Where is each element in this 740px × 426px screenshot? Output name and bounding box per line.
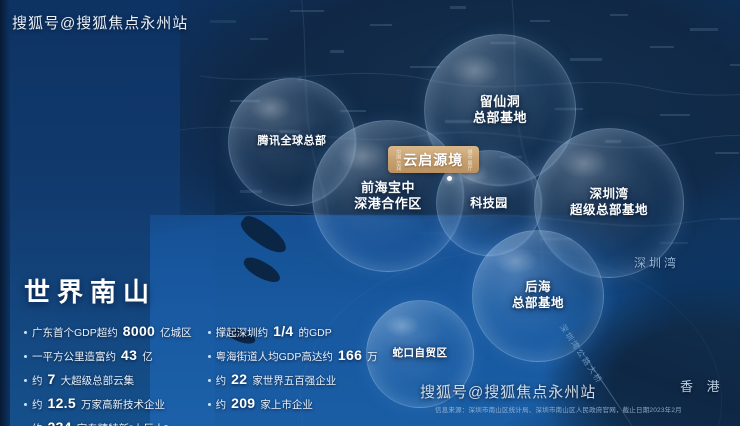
stat-value: 12.5 (48, 395, 76, 411)
stat-post: 万 (367, 349, 378, 364)
watermark-bottom: 搜狐号@搜狐焦点永州站 (420, 381, 596, 402)
stat-pre: 粤海街道人均GDP高达约 (216, 349, 333, 364)
stat-post: 家世界五百强企业 (252, 373, 336, 388)
stat-pre: 撑起深圳约 (216, 325, 269, 340)
bullet-dot (208, 379, 211, 382)
stat-item: 约 209 家上市企业 (208, 395, 378, 412)
map-label-bay: 深圳湾 (634, 254, 679, 271)
bubble-label: 腾讯全球总部 (258, 135, 327, 149)
stat-item: 约 22 家世界五百强企业 (208, 371, 378, 388)
stat-post: 家上市企业 (260, 397, 313, 412)
stat-post: 万家高新技术企业 (81, 397, 165, 412)
stat-value: 22 (231, 371, 247, 387)
stat-post: 家专精特新“小巨人” (77, 421, 168, 426)
stat-post: 的GDP (299, 325, 332, 340)
bullet-dot (24, 355, 27, 358)
bullet-dot (208, 355, 211, 358)
stat-value: 234 (48, 419, 72, 426)
bubble-label: 前海宝中 深港合作区 (354, 180, 422, 213)
stat-item: 广东首个GDP超约 8000 亿城区 (24, 323, 192, 340)
stat-pre: 约 (216, 397, 227, 412)
watermark-top: 搜狐号@搜狐焦点永州站 (12, 12, 188, 33)
stat-pre: 约 (32, 397, 43, 412)
bubble-houhai-hq[interactable]: 后海 总部基地 (472, 230, 604, 362)
bullet-dot (24, 331, 27, 334)
stat-value: 7 (48, 371, 56, 387)
map-infographic: 深圳湾公路大桥 腾讯全球总部 留仙洞 总部基地 前海宝中 深港合作区 科技园 深… (0, 0, 740, 426)
bullet-dot (208, 403, 211, 406)
map-left-edge-shade (0, 0, 10, 426)
bubble-label: 留仙洞 总部基地 (473, 94, 527, 127)
stats-columns: 广东首个GDP超约 8000 亿城区 一平方公里造富约 43 亿 约 7 大超级… (24, 323, 378, 426)
stat-pre: 一平方公里造富约 (32, 349, 116, 364)
stat-item: 约 234 家专精特新“小巨人” (24, 419, 192, 426)
stat-value: 43 (121, 347, 137, 363)
bullet-dot (24, 403, 27, 406)
stat-pre: 广东首个GDP超约 (32, 325, 118, 340)
stat-item: 约 7 大超级总部云集 (24, 371, 192, 388)
badge-title: 云启源境 (403, 150, 463, 170)
stat-value: 8000 (123, 323, 155, 339)
stats-column-left: 广东首个GDP超约 8000 亿城区 一平方公里造富约 43 亿 约 7 大超级… (24, 323, 192, 426)
bubble-label: 后海 总部基地 (512, 280, 564, 311)
stats-column-right: 撑起深圳约 1/4 的GDP 粤海街道人均GDP高达约 166 万 约 22 家… (208, 323, 378, 426)
stat-item: 粤海街道人均GDP高达约 166 万 (208, 347, 378, 364)
stat-value: 1/4 (273, 323, 293, 339)
stat-item: 撑起深圳约 1/4 的GDP (208, 323, 378, 340)
info-panel: 世界南山 广东首个GDP超约 8000 亿城区 一平方公里造富约 43 亿 约 (24, 272, 378, 426)
stat-item: 一平方公里造富约 43 亿 (24, 347, 192, 364)
map-label-hongkong: 香 港 (680, 376, 725, 395)
stat-pre: 约 (216, 373, 227, 388)
badge-anchor-dot (447, 176, 452, 181)
stat-pre: 约 (32, 421, 43, 426)
badge-left-ornament: 中国 华润 (395, 149, 400, 170)
project-badge[interactable]: 中国 华润 云启源境 城市 展厅 (388, 146, 479, 173)
stat-pre: 约 (32, 373, 43, 388)
bubble-label: 蛇口自贸区 (393, 347, 448, 360)
stat-post: 亿 (142, 349, 153, 364)
bubble-label: 深圳湾 超级总部基地 (570, 187, 648, 218)
stat-post: 大超级总部云集 (61, 373, 135, 388)
bubble-label: 科技园 (470, 196, 508, 211)
bullet-dot (208, 331, 211, 334)
page-title: 世界南山 (24, 272, 378, 309)
source-note: 信息来源：深圳市南山区统计局、深圳市南山区人民政府官网，截止日期2023年2月 (435, 404, 682, 414)
badge-right-ornament: 城市 展厅 (466, 149, 471, 170)
bullet-dot (24, 379, 27, 382)
stat-post: 亿城区 (160, 325, 192, 340)
stat-item: 约 12.5 万家高新技术企业 (24, 395, 192, 412)
stat-value: 209 (231, 395, 255, 411)
stat-value: 166 (338, 347, 362, 363)
